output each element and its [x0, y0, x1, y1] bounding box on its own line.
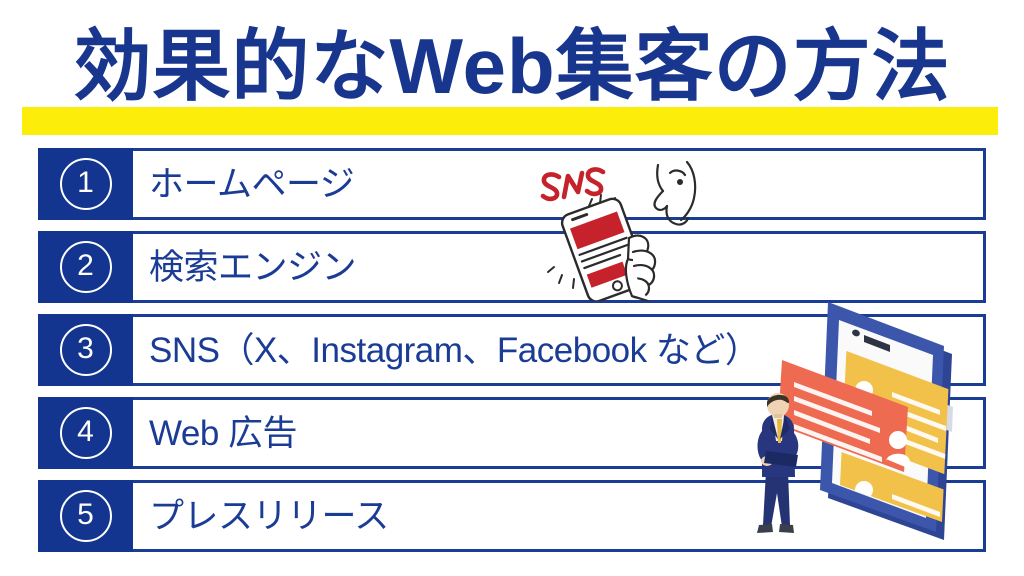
list-item[interactable]: 4 Web 広告 — [38, 397, 986, 469]
list-item-body: SNS（X、Instagram、Facebook など） — [133, 314, 986, 386]
list-item-badge: 4 — [38, 397, 133, 469]
title-block: 効果的なWeb集客の方法 — [0, 14, 1024, 130]
list-item[interactable]: 3 SNS（X、Instagram、Facebook など） — [38, 314, 986, 386]
list-item-label: 検索エンジン — [149, 250, 356, 285]
list-item-badge: 5 — [38, 480, 133, 552]
list-item-badge: 3 — [38, 314, 133, 386]
list-item-body: プレスリリース — [133, 480, 986, 552]
list-item-body: 検索エンジン — [133, 231, 986, 303]
list-item[interactable]: 1 ホームページ — [38, 148, 986, 220]
list-item-badge: 2 — [38, 231, 133, 303]
list-item-number: 3 — [60, 324, 112, 376]
list-item-label: SNS（X、Instagram、Facebook など） — [149, 333, 759, 368]
list-item-body: Web 広告 — [133, 397, 986, 469]
list-item-body: ホームページ — [133, 148, 986, 220]
list-item-badge: 1 — [38, 148, 133, 220]
list-item-number: 5 — [60, 490, 112, 542]
list-item-number: 1 — [60, 158, 112, 210]
list-item-number: 2 — [60, 241, 112, 293]
list-item-label: ホームページ — [149, 167, 354, 202]
list-item-label: Web 広告 — [149, 416, 297, 451]
page-title: 効果的なWeb集客の方法 — [0, 14, 1024, 118]
list-item[interactable]: 5 プレスリリース — [38, 480, 986, 552]
method-list: 1 ホームページ 2 検索エンジン 3 SNS（X、Instagram、Face… — [38, 148, 986, 560]
list-item-label: プレスリリース — [149, 499, 389, 534]
slide-canvas: 効果的なWeb集客の方法 1 ホームページ 2 検索エンジン 3 SNS（ — [0, 0, 1024, 576]
list-item-number: 4 — [60, 407, 112, 459]
list-item[interactable]: 2 検索エンジン — [38, 231, 986, 303]
